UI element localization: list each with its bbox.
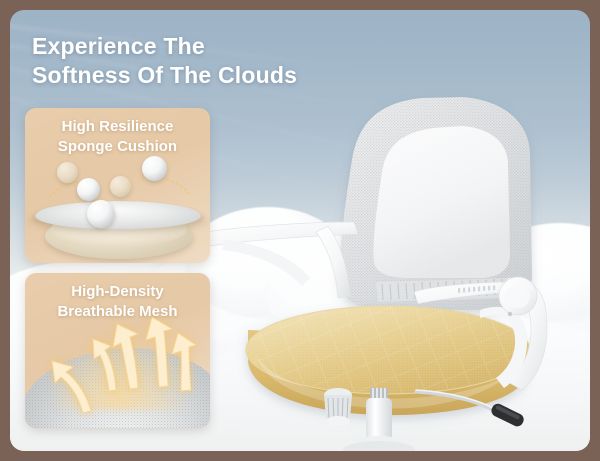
airflow-arrow: [165, 331, 199, 393]
poster-frame: Experience The Softness Of The Clouds Hi…: [0, 0, 600, 461]
feature-card-mesh[interactable]: High-Density Breathable Mesh: [25, 273, 210, 428]
feature-card-title: High Resilience Sponge Cushion: [33, 117, 202, 156]
scene-background: Experience The Softness Of The Clouds Hi…: [10, 10, 590, 451]
tilt-knob: [324, 388, 352, 426]
sponge-ball: [57, 162, 78, 183]
sponge-ball: [77, 178, 100, 201]
sponge-ball: [87, 200, 115, 228]
left-armrest: [206, 222, 358, 298]
sponge-ball: [142, 156, 167, 181]
sponge-ball: [110, 176, 131, 197]
page-title: Experience The Softness Of The Clouds: [32, 32, 297, 90]
lumbar-support: [373, 126, 510, 278]
feature-card-title: High-Density Breathable Mesh: [33, 282, 202, 321]
feature-card-resilience[interactable]: High Resilience Sponge Cushion: [25, 108, 210, 263]
